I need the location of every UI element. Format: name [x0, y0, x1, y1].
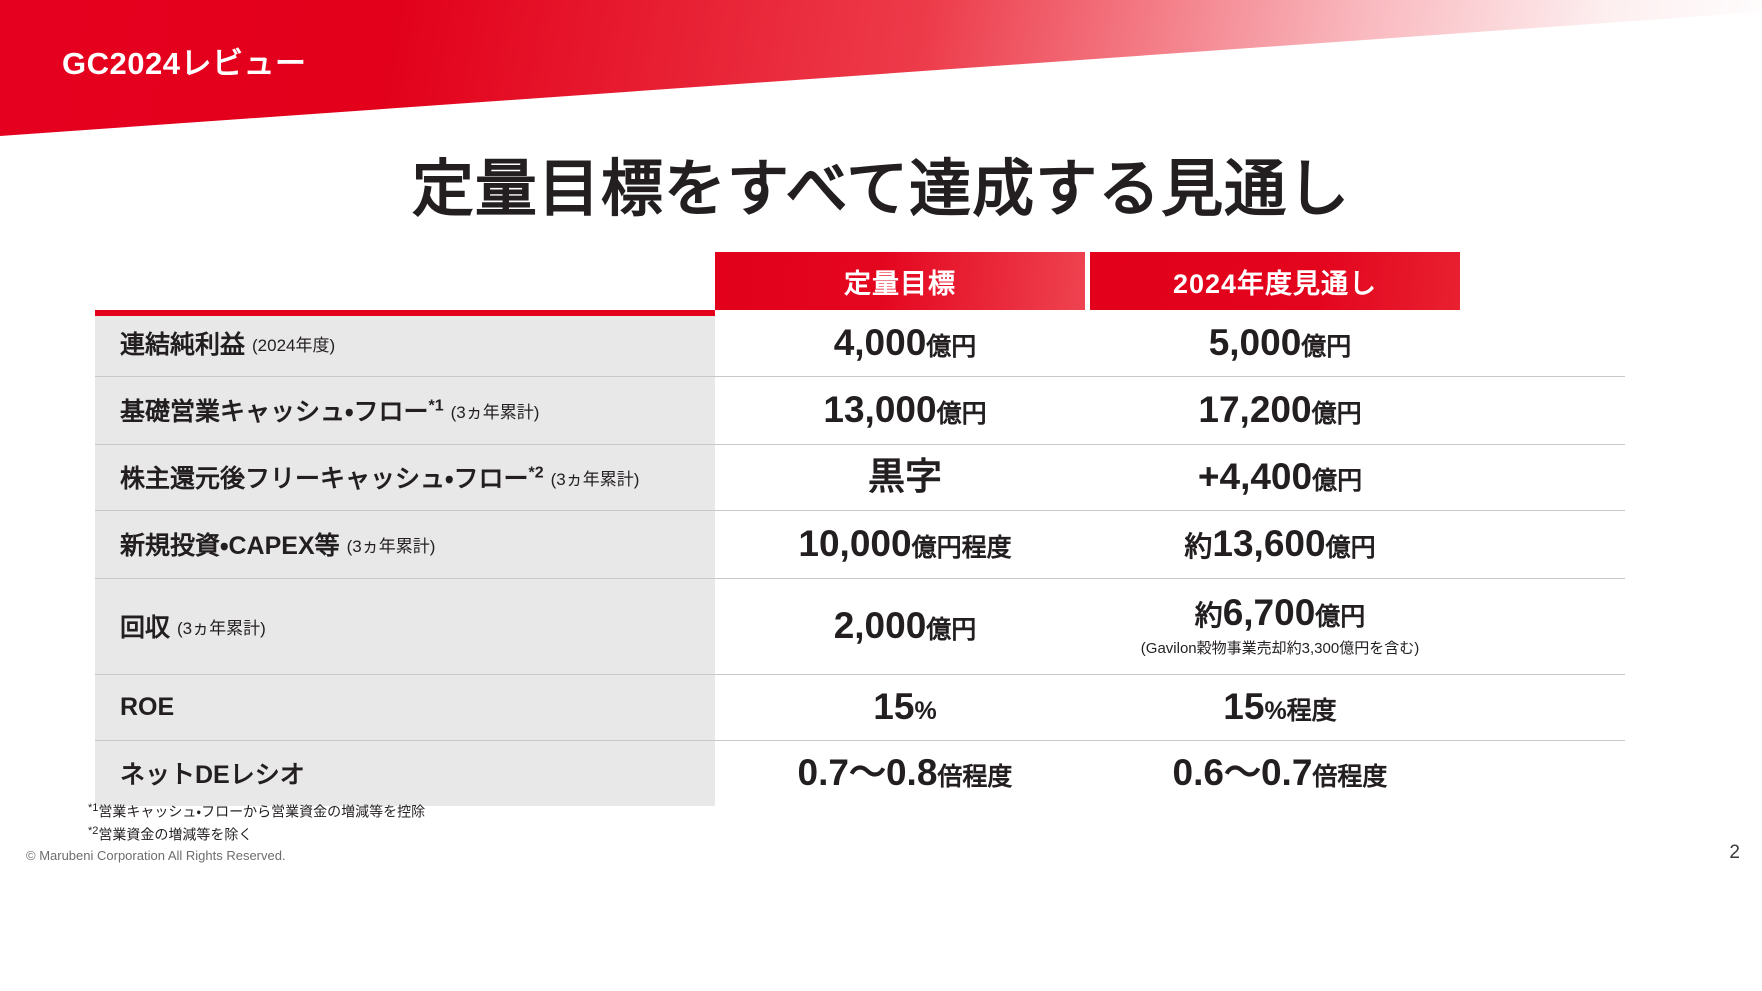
forecast-cell-unit: %程度 [1264, 697, 1336, 725]
forecast-cell-value: 0.6～0.7倍程度 [1173, 754, 1388, 793]
target-cell-unit: 億円程度 [912, 534, 1012, 562]
target-cell-value: 15% [873, 688, 936, 727]
row-label-cell: 基礎営業キャッシュ・フロー*1(3ヵ年累計) [95, 376, 715, 444]
target-cell-unit: % [914, 697, 936, 725]
row-label-main: 新規投資・CAPEX等 [120, 526, 340, 562]
row-label-note: (3ヵ年累計) [347, 532, 436, 557]
forecast-cell-unit: 倍程度 [1312, 763, 1387, 791]
row-label-note: (2024年度) [252, 331, 335, 356]
page-title: 定量目標をすべて達成する見通し [0, 138, 1762, 228]
forecast-cell-value: 17,200億円 [1198, 391, 1361, 430]
row-divider [95, 740, 1625, 741]
table-row: 回収(3ヵ年累計)2,000億円約6,700億円(Gavilon穀物事業売却約3… [95, 578, 1625, 674]
target-cell: 15% [720, 674, 1090, 740]
target-cell-value: 黒字 [868, 458, 942, 497]
row-label-note: (3ヵ年累計) [177, 614, 266, 639]
target-cell-value: 0.7～0.8倍程度 [798, 754, 1013, 793]
table-row: 新規投資・CAPEX等(3ヵ年累計)10,000億円程度約13,600億円 [95, 510, 1625, 578]
row-label-superscript: *2 [529, 465, 544, 482]
target-cell-unit: 億円 [926, 616, 976, 644]
row-label-main: 株主還元後フリーキャッシュ・フロー*2 [120, 459, 544, 495]
footnote-2-text: 営業資金の増減等を除く [98, 827, 252, 843]
forecast-cell-subnote: (Gavilon穀物事業売却約3,300億円を含む) [1141, 637, 1419, 658]
forecast-cell-unit: 億円 [1312, 467, 1362, 495]
footnote-1-marker: *1 [88, 802, 98, 814]
target-cell-unit: 倍程度 [937, 763, 1012, 791]
forecast-cell: 約13,600億円 [1095, 510, 1465, 578]
metrics-table: 定量目標 2024年度見通し 連結純利益(2024年度)4,000億円5,000… [95, 252, 1625, 806]
forecast-cell: 5,000億円 [1095, 310, 1465, 376]
row-divider [95, 510, 1625, 511]
target-cell-unit: 億円 [926, 333, 976, 361]
forecast-cell: 17,200億円 [1095, 376, 1465, 444]
target-cell: 黒字 [720, 444, 1090, 510]
forecast-cell: 15%程度 [1095, 674, 1465, 740]
row-divider [95, 674, 1625, 675]
forecast-cell: 約6,700億円(Gavilon穀物事業売却約3,300億円を含む) [1095, 578, 1465, 674]
row-label-main: 回収 [120, 608, 170, 644]
header-banner: GC2024レビュー [0, 0, 1762, 160]
target-cell-value: 4,000億円 [834, 324, 977, 363]
column-header-target: 定量目標 [715, 252, 1085, 310]
row-label-cell: ネットDEレシオ [95, 740, 715, 806]
target-cell-value: 13,000億円 [823, 391, 986, 430]
forecast-cell-value: +4,400億円 [1198, 458, 1362, 497]
table-header-row: 定量目標 2024年度見通し [95, 252, 1625, 310]
table-row: ネットDEレシオ0.7～0.8倍程度0.6～0.7倍程度 [95, 740, 1625, 806]
forecast-cell-prefix: 約 [1195, 600, 1223, 631]
row-label-cell: 株主還元後フリーキャッシュ・フロー*2(3ヵ年累計) [95, 444, 715, 510]
footnotes: *1営業キャッシュ・フローから営業資金の増減等を控除 *2営業資金の増減等を除く [88, 800, 425, 847]
banner-title: GC2024レビュー [62, 38, 306, 83]
target-cell-value: 2,000億円 [834, 607, 977, 646]
row-divider [95, 578, 1625, 579]
row-label-cell: ROE [95, 674, 715, 740]
row-divider [95, 376, 1625, 377]
table-row: ROE15%15%程度 [95, 674, 1625, 740]
target-cell: 0.7～0.8倍程度 [720, 740, 1090, 806]
forecast-cell-value: 約6,700億円 [1195, 594, 1366, 633]
row-divider [95, 444, 1625, 445]
footnote-1-text: 営業キャッシュ・フローから営業資金の増減等を控除 [98, 804, 425, 820]
target-cell-unit: 億円 [937, 400, 987, 428]
forecast-cell-unit: 億円 [1326, 534, 1376, 562]
target-cell: 10,000億円程度 [720, 510, 1090, 578]
row-label-main: 連結純利益 [120, 325, 245, 361]
row-label-note: (3ヵ年累計) [551, 465, 640, 490]
footnote-1: *1営業キャッシュ・フローから営業資金の増減等を控除 [88, 800, 425, 823]
row-label-superscript: *1 [429, 398, 444, 415]
row-label-cell: 回収(3ヵ年累計) [95, 578, 715, 674]
target-cell: 13,000億円 [720, 376, 1090, 444]
forecast-cell: +4,400億円 [1095, 444, 1465, 510]
page-number: 2 [1729, 842, 1740, 864]
row-label-note: (3ヵ年累計) [451, 398, 540, 423]
footnote-2: *2営業資金の増減等を除く [88, 823, 425, 846]
row-label-main: ROE [120, 693, 174, 722]
forecast-cell-value: 15%程度 [1223, 688, 1336, 727]
footnote-2-marker: *2 [88, 825, 98, 837]
table-row: 株主還元後フリーキャッシュ・フロー*2(3ヵ年累計)黒字+4,400億円 [95, 444, 1625, 510]
table-body: 連結純利益(2024年度)4,000億円5,000億円基礎営業キャッシュ・フロー… [95, 310, 1625, 806]
target-cell: 2,000億円 [720, 578, 1090, 674]
label-column-accent-bar [95, 310, 715, 316]
column-header-forecast: 2024年度見通し [1090, 252, 1460, 310]
copyright-text: © Marubeni Corporation All Rights Reserv… [26, 848, 286, 863]
row-label-cell: 連結純利益(2024年度) [95, 310, 715, 376]
forecast-cell-value: 約13,600億円 [1184, 525, 1375, 564]
row-label-cell: 新規投資・CAPEX等(3ヵ年累計) [95, 510, 715, 578]
forecast-cell-unit: 億円 [1301, 333, 1351, 361]
forecast-cell-unit: 億円 [1315, 603, 1365, 631]
table-row: 連結純利益(2024年度)4,000億円5,000億円 [95, 310, 1625, 376]
table-row: 基礎営業キャッシュ・フロー*1(3ヵ年累計)13,000億円17,200億円 [95, 376, 1625, 444]
row-label-main: ネットDEレシオ [120, 755, 305, 791]
forecast-cell-prefix: 約 [1184, 531, 1212, 562]
forecast-cell-unit: 億円 [1312, 400, 1362, 428]
forecast-cell: 0.6～0.7倍程度 [1095, 740, 1465, 806]
target-cell: 4,000億円 [720, 310, 1090, 376]
forecast-cell-value: 5,000億円 [1209, 324, 1352, 363]
target-cell-value: 10,000億円程度 [798, 525, 1011, 564]
row-label-main: 基礎営業キャッシュ・フロー*1 [120, 392, 444, 428]
